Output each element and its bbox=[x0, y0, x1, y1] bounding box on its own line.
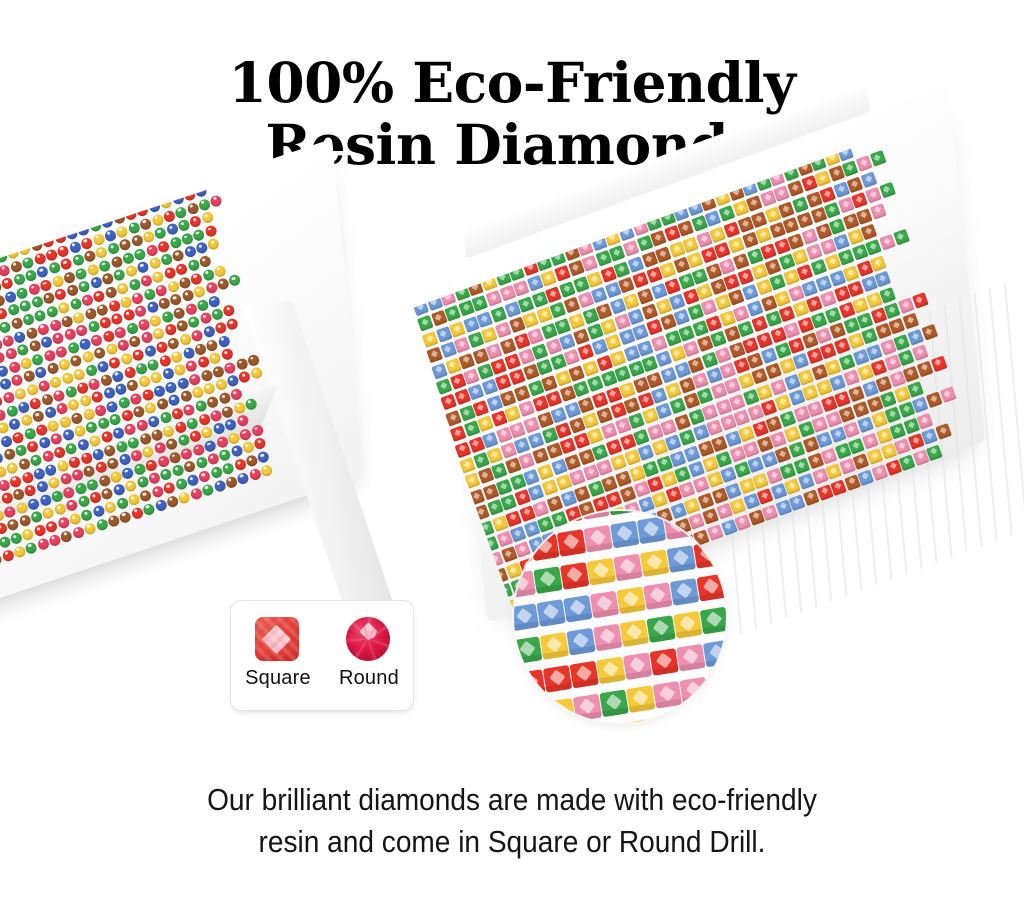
drill-bead bbox=[436, 378, 453, 395]
drill-bead bbox=[110, 255, 124, 269]
drill-bead bbox=[719, 205, 736, 222]
drill-bead bbox=[97, 474, 111, 488]
drill-bead bbox=[182, 346, 196, 360]
drill-bead bbox=[31, 352, 45, 366]
drill-bead bbox=[221, 462, 235, 476]
drill-bead bbox=[794, 457, 811, 474]
drill-bead bbox=[238, 370, 252, 384]
drill-bead bbox=[770, 379, 787, 396]
drill-bead bbox=[197, 412, 211, 426]
closeup-drill-bead bbox=[569, 661, 598, 689]
drill-bead bbox=[21, 528, 35, 542]
drill-bead bbox=[684, 445, 701, 462]
drill-bead bbox=[870, 151, 887, 168]
closeup-drill-bead bbox=[546, 698, 575, 723]
drill-bead bbox=[93, 346, 107, 360]
drill-bead bbox=[43, 406, 57, 420]
drill-bead bbox=[596, 407, 613, 424]
drill-bead bbox=[156, 454, 170, 468]
drill-bead bbox=[195, 456, 209, 470]
drill-bead bbox=[559, 281, 576, 298]
drill-bead bbox=[166, 279, 180, 293]
round-drill-tray bbox=[0, 246, 412, 646]
drill-bead bbox=[174, 477, 188, 491]
drill-bead bbox=[25, 383, 39, 397]
square-drill-closeup bbox=[514, 511, 726, 723]
drill-bead bbox=[751, 316, 768, 333]
drill-bead bbox=[912, 345, 929, 362]
drill-bead bbox=[176, 376, 190, 390]
drill-bead bbox=[606, 439, 623, 456]
drill-bead bbox=[80, 236, 94, 250]
drill-bead bbox=[582, 360, 599, 377]
drill-bead bbox=[801, 228, 818, 245]
drill-bead bbox=[167, 394, 181, 408]
drill-bead bbox=[218, 448, 232, 462]
drill-bead bbox=[688, 461, 705, 478]
drill-bead bbox=[115, 497, 129, 511]
drill-bead bbox=[486, 290, 503, 307]
drill-bead bbox=[203, 439, 217, 453]
drill-bead bbox=[131, 348, 145, 362]
drill-bead bbox=[236, 471, 250, 485]
drill-bead bbox=[1, 549, 15, 563]
drill-bead bbox=[167, 337, 181, 351]
drill-bead bbox=[445, 410, 462, 427]
drill-bead bbox=[615, 470, 632, 487]
closeup-drill-bead bbox=[690, 511, 719, 536]
drill-bead bbox=[870, 255, 887, 272]
drill-bead bbox=[803, 489, 820, 506]
closeup-drill-bead bbox=[653, 681, 682, 709]
drill-bead bbox=[159, 468, 173, 482]
drill-bead bbox=[856, 155, 873, 172]
drill-bead bbox=[105, 400, 119, 414]
drill-bead bbox=[235, 357, 249, 371]
drill-bead bbox=[917, 413, 934, 430]
drill-bead bbox=[126, 379, 140, 393]
drill-bead bbox=[875, 271, 892, 288]
drill-bead bbox=[829, 322, 846, 339]
drill-bead bbox=[68, 240, 82, 254]
drill-bead bbox=[107, 299, 121, 313]
drill-bead bbox=[742, 284, 759, 301]
drill-bead bbox=[761, 347, 778, 364]
product-promo-image: 100% Eco-Friendly Resin Diamonds Square … bbox=[0, 0, 1024, 923]
drill-bead bbox=[554, 265, 571, 282]
drill-bead bbox=[66, 341, 80, 355]
drill-bead bbox=[210, 466, 224, 480]
drill-bead bbox=[104, 500, 118, 514]
drill-bead bbox=[142, 287, 156, 301]
drill-bead bbox=[185, 359, 199, 373]
drill-bead bbox=[118, 453, 132, 467]
drill-bead bbox=[123, 422, 137, 436]
drill-bead bbox=[537, 464, 554, 481]
closeup-drill-bead bbox=[527, 511, 556, 528]
drill-bead bbox=[39, 493, 53, 507]
drill-bead bbox=[159, 411, 173, 425]
drill-bead bbox=[24, 484, 38, 498]
drill-bead bbox=[169, 293, 183, 307]
drill-bead bbox=[504, 353, 521, 370]
page-caption: Our brilliant diamonds are made with eco… bbox=[89, 779, 935, 863]
drill-bead bbox=[113, 325, 127, 339]
drill-bead bbox=[454, 441, 471, 458]
drill-bead bbox=[47, 419, 61, 433]
drill-bead bbox=[62, 485, 76, 499]
drill-bead bbox=[21, 470, 35, 484]
drill-bead bbox=[815, 275, 832, 292]
drill-bead bbox=[186, 258, 200, 272]
drill-type-legend: Square Round bbox=[230, 600, 414, 711]
drill-bead bbox=[69, 297, 83, 311]
drill-bead bbox=[204, 281, 218, 295]
closeup-drill-bead bbox=[656, 714, 685, 723]
drill-bead bbox=[136, 476, 150, 490]
drill-bead bbox=[641, 303, 658, 320]
closeup-drill-bead bbox=[616, 586, 645, 614]
closeup-drill-bead bbox=[629, 718, 658, 723]
drill-bead bbox=[131, 291, 145, 305]
drill-bead bbox=[226, 317, 240, 331]
closeup-drill-bead bbox=[679, 677, 708, 705]
drill-bead bbox=[218, 391, 232, 405]
drill-bead bbox=[250, 424, 264, 438]
drill-bead bbox=[11, 374, 25, 388]
drill-bead bbox=[127, 221, 141, 235]
drill-bead bbox=[775, 394, 792, 411]
drill-bead bbox=[60, 529, 74, 543]
drill-bead bbox=[188, 373, 202, 387]
legend-icons bbox=[231, 615, 413, 663]
drill-bead bbox=[89, 276, 103, 290]
closeup-drill-bead bbox=[516, 669, 545, 697]
closeup-drill-bead bbox=[519, 702, 548, 723]
drill-bead bbox=[36, 537, 50, 551]
closeup-drill-bead bbox=[626, 685, 655, 713]
closeup-drill-bead bbox=[663, 512, 692, 540]
drill-bead bbox=[164, 323, 178, 337]
drill-bead bbox=[95, 518, 109, 532]
drill-bead bbox=[787, 180, 804, 197]
drill-bead bbox=[152, 327, 166, 341]
drill-bead bbox=[9, 474, 23, 488]
drill-bead bbox=[222, 304, 236, 318]
drill-bead bbox=[95, 303, 109, 317]
drill-bead bbox=[468, 489, 485, 506]
drill-bead bbox=[113, 268, 127, 282]
drill-bead bbox=[15, 286, 29, 300]
drill-bead bbox=[158, 354, 172, 368]
drill-bead bbox=[160, 310, 174, 324]
drill-bead bbox=[183, 460, 197, 474]
drill-bead bbox=[205, 338, 219, 352]
drill-bead bbox=[79, 451, 93, 465]
drill-bead bbox=[130, 234, 144, 248]
drill-bead bbox=[75, 324, 89, 338]
drill-bead bbox=[542, 479, 559, 496]
drill-bead bbox=[71, 253, 85, 267]
closeup-drill-bead bbox=[566, 628, 595, 656]
drill-bead bbox=[37, 322, 51, 336]
drill-bead bbox=[154, 283, 168, 297]
closeup-drill-bead bbox=[706, 673, 726, 701]
drill-bead bbox=[223, 361, 237, 375]
drill-bead bbox=[893, 229, 910, 246]
drill-bead bbox=[930, 355, 947, 372]
drill-bead bbox=[693, 477, 710, 494]
drill-bead bbox=[0, 320, 12, 334]
drill-bead bbox=[55, 345, 69, 359]
drill-bead bbox=[86, 478, 100, 492]
drill-bead bbox=[111, 369, 125, 383]
closeup-drill-bead bbox=[560, 562, 589, 590]
drill-bead bbox=[10, 316, 24, 330]
closeup-drill-bead bbox=[683, 710, 712, 723]
drill-bead bbox=[431, 362, 448, 379]
drill-bead bbox=[192, 443, 206, 457]
drill-bead bbox=[509, 369, 526, 386]
drill-bead bbox=[65, 499, 79, 513]
drill-bead bbox=[843, 369, 860, 386]
drill-bead bbox=[120, 409, 134, 423]
drill-bead bbox=[70, 411, 84, 425]
drill-bead bbox=[190, 272, 204, 286]
drill-bead bbox=[83, 521, 97, 535]
drill-bead bbox=[92, 232, 106, 246]
drill-bead bbox=[861, 224, 878, 241]
drill-bead bbox=[853, 401, 870, 418]
drill-bead bbox=[201, 268, 215, 282]
drill-bead bbox=[100, 430, 114, 444]
drill-bead bbox=[165, 437, 179, 451]
drill-bead bbox=[129, 392, 143, 406]
drill-bead bbox=[912, 292, 929, 309]
drill-bead bbox=[765, 363, 782, 380]
drill-bead bbox=[203, 382, 217, 396]
drill-bead bbox=[207, 237, 221, 251]
drill-bead bbox=[40, 392, 54, 406]
closeup-drill-bead bbox=[554, 511, 583, 524]
drill-bead bbox=[110, 312, 124, 326]
drill-bead bbox=[839, 354, 856, 371]
closeup-drill-bead bbox=[580, 511, 609, 520]
drill-bead bbox=[798, 473, 815, 490]
closeup-drill-bead bbox=[599, 689, 628, 717]
drill-bead bbox=[72, 310, 86, 324]
drill-bead bbox=[149, 371, 163, 385]
drill-bead bbox=[921, 324, 938, 341]
closeup-drill-bead bbox=[543, 665, 572, 693]
drill-bead bbox=[65, 442, 79, 456]
drill-bead bbox=[935, 423, 952, 440]
drill-bead bbox=[115, 439, 129, 453]
drill-bead bbox=[172, 306, 186, 320]
closeup-drill-bead bbox=[703, 640, 726, 668]
drill-bead bbox=[217, 334, 231, 348]
closeup-drill-bead bbox=[596, 657, 625, 685]
drill-bead bbox=[198, 469, 212, 483]
closeup-drill-bead bbox=[676, 644, 705, 672]
drill-bead bbox=[637, 288, 654, 305]
drill-bead bbox=[1, 277, 15, 291]
drill-bead bbox=[134, 304, 148, 318]
drill-bead bbox=[27, 497, 41, 511]
drill-bead bbox=[7, 360, 21, 374]
drill-bead bbox=[25, 326, 39, 340]
drill-bead bbox=[660, 366, 677, 383]
drill-bead bbox=[124, 479, 138, 493]
drill-bead bbox=[248, 467, 262, 481]
drill-bead bbox=[260, 463, 274, 477]
drill-bead bbox=[224, 418, 238, 432]
drill-bead bbox=[6, 461, 20, 475]
closeup-drill-bead bbox=[603, 722, 632, 723]
drill-bead bbox=[102, 329, 116, 343]
drill-bead bbox=[161, 367, 175, 381]
drill-bead bbox=[178, 333, 192, 347]
drill-bead bbox=[141, 388, 155, 402]
closeup-drill-bead bbox=[557, 529, 586, 557]
drill-bead bbox=[174, 420, 188, 434]
drill-bead bbox=[213, 264, 227, 278]
drill-bead bbox=[208, 294, 222, 308]
drill-bead bbox=[177, 433, 191, 447]
drill-bead bbox=[39, 278, 53, 292]
drill-bead bbox=[253, 437, 267, 451]
drill-bead bbox=[784, 426, 801, 443]
drill-bead bbox=[180, 447, 194, 461]
drill-bead bbox=[733, 253, 750, 270]
drill-bead bbox=[926, 392, 943, 409]
drill-bead bbox=[601, 423, 618, 440]
closeup-drill-bead bbox=[667, 545, 696, 573]
drill-bead bbox=[87, 320, 101, 334]
drill-bead bbox=[21, 256, 35, 270]
drill-bead bbox=[85, 421, 99, 435]
drill-bead bbox=[150, 213, 164, 227]
drill-bead bbox=[797, 212, 814, 229]
drill-bead bbox=[247, 353, 261, 367]
drill-bead bbox=[36, 265, 50, 279]
drill-bead bbox=[206, 395, 220, 409]
drill-bead bbox=[825, 306, 842, 323]
drill-bead bbox=[151, 270, 165, 284]
drill-bead bbox=[11, 431, 25, 445]
drill-bead bbox=[45, 520, 59, 534]
drill-bead bbox=[862, 433, 879, 450]
drill-bead bbox=[51, 331, 65, 345]
drill-bead bbox=[209, 194, 223, 208]
legend-labels: Square Round bbox=[231, 667, 413, 690]
drill-bead bbox=[82, 407, 96, 421]
drill-bead bbox=[133, 247, 147, 261]
closeup-drill-bead bbox=[607, 511, 636, 516]
drill-bead bbox=[157, 240, 171, 254]
drill-bead bbox=[144, 458, 158, 472]
drill-bead bbox=[747, 300, 764, 317]
drill-bead bbox=[147, 415, 161, 429]
drill-bead bbox=[34, 366, 48, 380]
drill-bead bbox=[779, 410, 796, 427]
drill-bead bbox=[426, 347, 443, 364]
drill-bead bbox=[623, 240, 640, 257]
drill-bead bbox=[194, 399, 208, 413]
closeup-drill-bead bbox=[610, 521, 639, 549]
drill-bead bbox=[24, 541, 38, 555]
drill-bead bbox=[213, 479, 227, 493]
drill-bead bbox=[233, 458, 247, 472]
drill-bead bbox=[162, 481, 176, 495]
drill-bead bbox=[200, 369, 214, 383]
drill-bead bbox=[620, 486, 637, 503]
drill-bead bbox=[117, 396, 131, 410]
closeup-drill-bead bbox=[514, 603, 539, 631]
closeup-drill-bead bbox=[593, 624, 622, 652]
drill-bead bbox=[627, 256, 644, 273]
drill-bead bbox=[546, 495, 563, 512]
drill-bead bbox=[106, 457, 120, 471]
drill-bead bbox=[116, 282, 130, 296]
legend-label-square: Square bbox=[245, 667, 311, 690]
drill-bead bbox=[16, 343, 30, 357]
drill-bead bbox=[59, 257, 73, 271]
drill-bead bbox=[84, 307, 98, 321]
drill-bead bbox=[422, 331, 439, 348]
square-gem-icon bbox=[255, 617, 299, 661]
drill-bead bbox=[164, 380, 178, 394]
drill-bead bbox=[90, 333, 104, 347]
drill-bead bbox=[177, 490, 191, 504]
drill-bead bbox=[125, 322, 139, 336]
drill-bead bbox=[198, 255, 212, 269]
drill-bead bbox=[92, 289, 106, 303]
drill-bead bbox=[69, 354, 83, 368]
drill-bead bbox=[756, 331, 773, 348]
drill-bead bbox=[500, 338, 517, 355]
closeup-drill-bead bbox=[696, 574, 725, 602]
drill-bead bbox=[220, 348, 234, 362]
drill-bead bbox=[698, 492, 715, 509]
drill-bead bbox=[185, 416, 199, 430]
drill-bead bbox=[244, 397, 258, 411]
closeup-drill-bead bbox=[613, 554, 642, 582]
drill-bead bbox=[568, 313, 585, 330]
drill-bead bbox=[121, 466, 135, 480]
drill-bead bbox=[187, 315, 201, 329]
closeup-drill-bead bbox=[587, 558, 616, 586]
drill-bead bbox=[184, 302, 198, 316]
closeup-drill-bead bbox=[530, 533, 559, 561]
drill-bead bbox=[98, 259, 112, 273]
drill-bead bbox=[879, 182, 896, 199]
drill-bead bbox=[646, 319, 663, 336]
drill-bead bbox=[737, 268, 754, 285]
drill-bead bbox=[201, 211, 215, 225]
closeup-bead-field bbox=[514, 511, 726, 723]
closeup-drill-bead bbox=[623, 652, 652, 680]
drill-bead bbox=[228, 273, 242, 287]
drill-bead bbox=[26, 440, 40, 454]
drill-bead bbox=[148, 257, 162, 271]
drill-bead bbox=[41, 449, 55, 463]
drill-bead bbox=[592, 391, 609, 408]
drill-bead bbox=[68, 455, 82, 469]
drill-bead bbox=[52, 389, 66, 403]
drill-bead bbox=[200, 426, 214, 440]
drill-bead bbox=[44, 463, 58, 477]
